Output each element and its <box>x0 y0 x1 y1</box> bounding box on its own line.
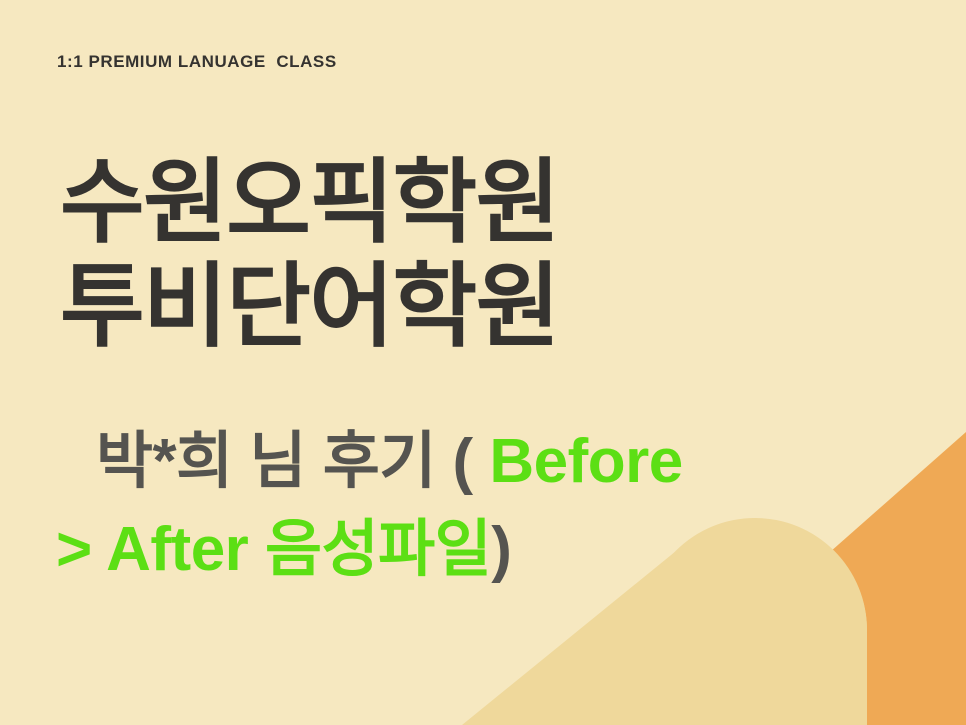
subtitle-line-2-tail: ) <box>491 515 511 584</box>
eyebrow-text: 1:1 PREMIUM LANUAGE CLASS <box>57 52 337 72</box>
subtitle-line-1-highlight: Before <box>489 427 682 496</box>
headline-line-2: 투비단어학원 <box>60 256 760 360</box>
subtitle-line-2-highlight: > After 음성파일 <box>56 515 491 584</box>
subtitle: 박*희 님 후기 ( Before > After 음성파일) <box>56 418 816 594</box>
subtitle-line-1: 박*희 님 후기 ( Before <box>56 418 816 506</box>
background-decoration <box>0 0 966 725</box>
subtitle-line-1-lead: 박*희 님 후기 ( <box>96 427 489 496</box>
promo-slide: 1:1 PREMIUM LANUAGE CLASS 수원오픽학원 투비단어학원 … <box>0 0 966 725</box>
decoration-svg <box>0 0 966 725</box>
page-title: 수원오픽학원 투비단어학원 <box>60 152 760 360</box>
headline-line-1: 수원오픽학원 <box>60 152 760 256</box>
subtitle-line-2: > After 음성파일) <box>56 506 816 594</box>
